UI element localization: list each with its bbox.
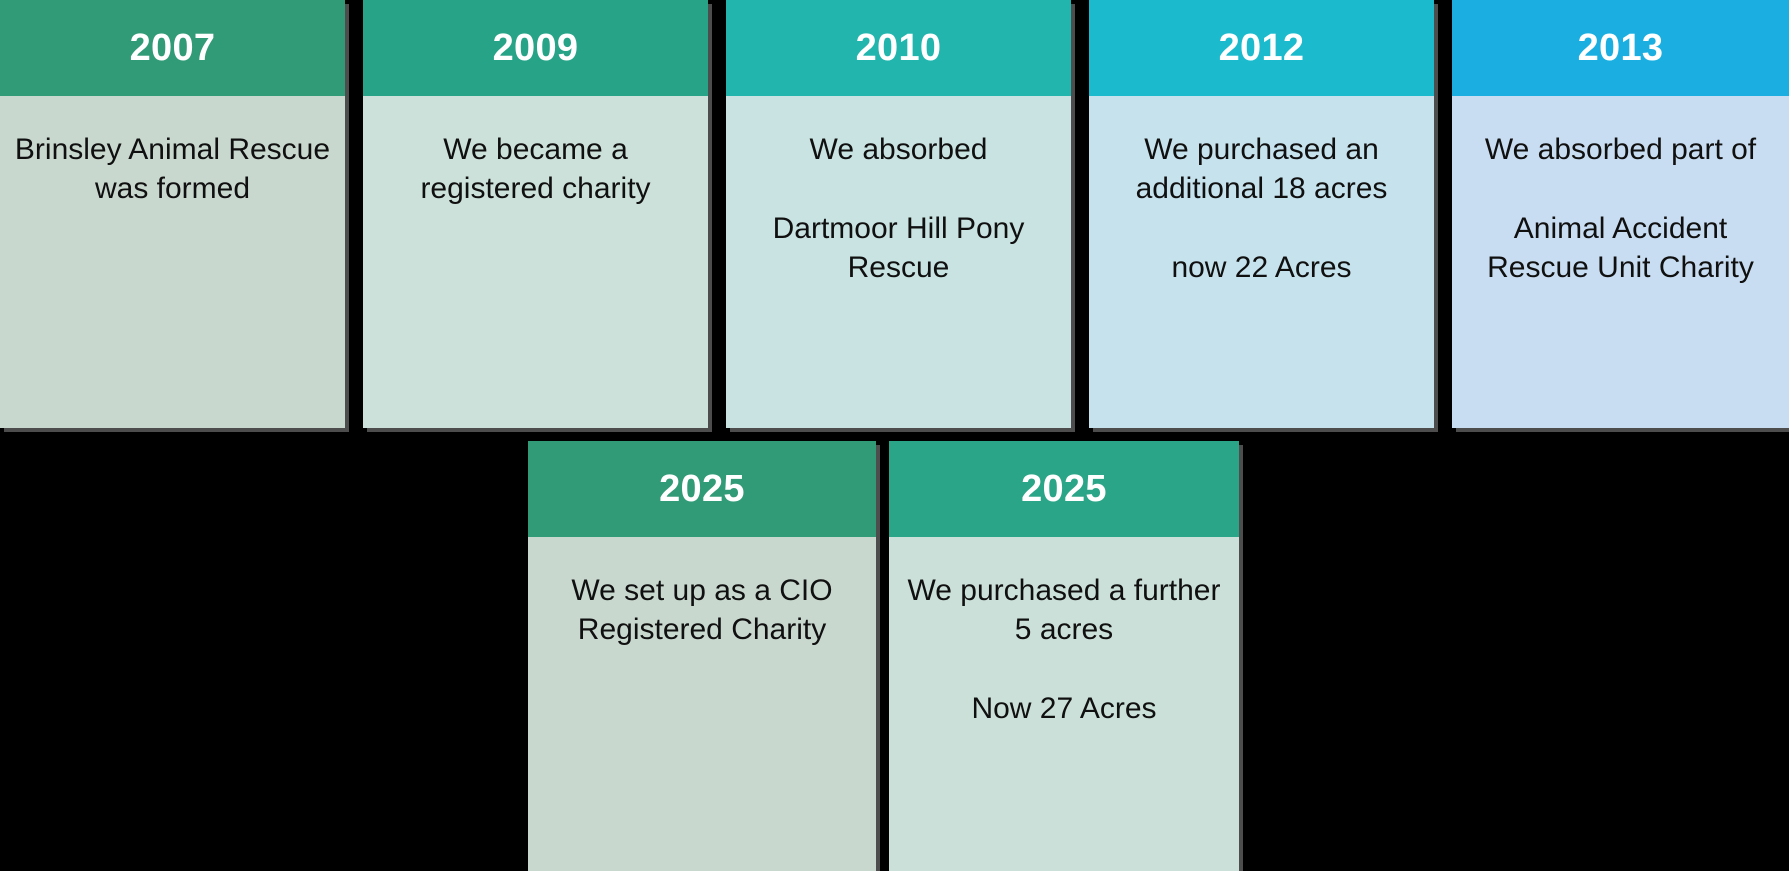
card-text-line: We became a registered charity	[377, 130, 694, 209]
timeline-card-2012[interactable]: 2012 We purchased an additional 18 acres…	[1089, 0, 1434, 428]
card-year-label: 2025	[1021, 470, 1107, 508]
card-body-2010: We absorbed Dartmoor Hill Pony Rescue	[726, 96, 1071, 428]
card-header-2010: 2010	[726, 0, 1071, 96]
card-text-line: We absorbed	[740, 130, 1057, 169]
timeline-infographic: 2007 Brinsley Animal Rescue was formed 2…	[0, 0, 1789, 871]
timeline-card-2025-cio[interactable]: 2025 We set up as a CIO Registered Chari…	[528, 441, 876, 871]
timeline-card-2007[interactable]: 2007 Brinsley Animal Rescue was formed	[0, 0, 345, 428]
card-header-2012: 2012	[1089, 0, 1434, 96]
card-body-2025-cio: We set up as a CIO Registered Charity	[528, 537, 876, 871]
timeline-card-2010[interactable]: 2010 We absorbed Dartmoor Hill Pony Resc…	[726, 0, 1071, 428]
card-year-label: 2012	[1219, 29, 1305, 67]
card-text-line: We purchased an additional 18 acres	[1103, 130, 1420, 209]
card-year-label: 2007	[130, 29, 216, 67]
card-body-2025-acres: We purchased a further 5 acres Now 27 Ac…	[889, 537, 1239, 871]
card-year-label: 2013	[1578, 29, 1664, 67]
card-text-line: Brinsley Animal Rescue was formed	[14, 130, 331, 209]
card-text-line: We set up as a CIO Registered Charity	[542, 571, 862, 650]
card-body-2009: We became a registered charity	[363, 96, 708, 428]
card-header-2007: 2007	[0, 0, 345, 96]
card-text-line: now 22 Acres	[1103, 248, 1420, 287]
card-header-2013: 2013	[1452, 0, 1789, 96]
card-year-label: 2025	[659, 470, 745, 508]
card-text-line: Dartmoor Hill Pony Rescue	[740, 209, 1057, 288]
card-body-2013: We absorbed part of Animal Accident Resc…	[1452, 96, 1789, 428]
card-body-2012: We purchased an additional 18 acres now …	[1089, 96, 1434, 428]
card-header-2025-acres: 2025	[889, 441, 1239, 537]
card-text-line: We absorbed part of	[1466, 130, 1775, 169]
card-year-label: 2010	[856, 29, 942, 67]
card-text-line: Now 27 Acres	[903, 689, 1225, 728]
card-year-label: 2009	[493, 29, 579, 67]
card-text-line: We purchased a further 5 acres	[903, 571, 1225, 650]
card-text-line: Animal Accident Rescue Unit Charity	[1466, 209, 1775, 288]
card-header-2025-cio: 2025	[528, 441, 876, 537]
timeline-card-2025-acres[interactable]: 2025 We purchased a further 5 acres Now …	[889, 441, 1239, 871]
card-header-2009: 2009	[363, 0, 708, 96]
card-body-2007: Brinsley Animal Rescue was formed	[0, 96, 345, 428]
timeline-card-2009[interactable]: 2009 We became a registered charity	[363, 0, 708, 428]
timeline-card-2013[interactable]: 2013 We absorbed part of Animal Accident…	[1452, 0, 1789, 428]
